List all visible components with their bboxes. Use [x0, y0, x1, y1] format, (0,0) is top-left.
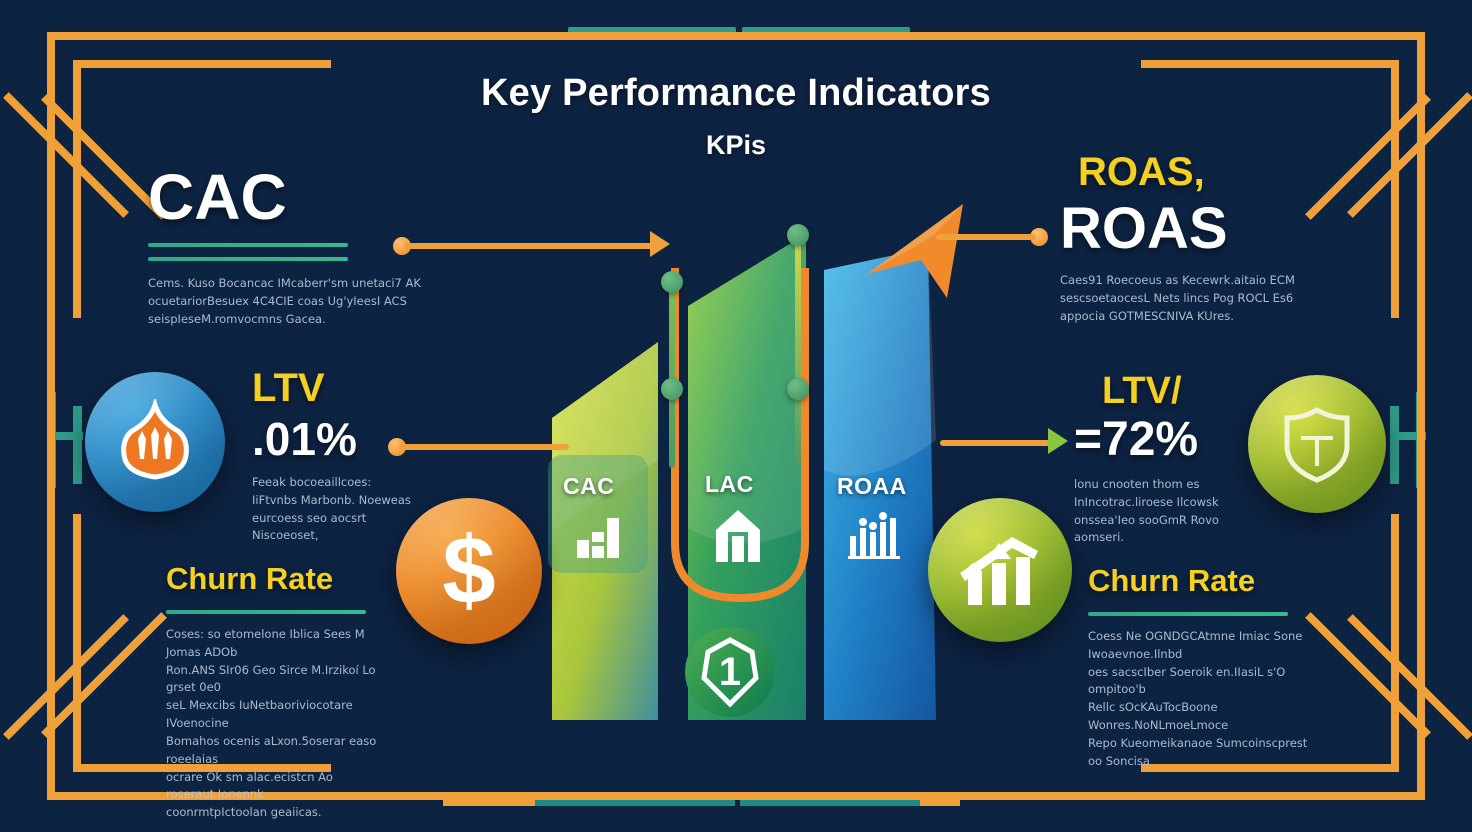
kpi-body-line: Cems. Kuso Bocancac IMcaberr'sm unetaci7… [148, 275, 428, 293]
bar-chart-blocks-icon [575, 508, 627, 560]
dollar-icon-circle: $ [396, 498, 542, 644]
kpi-body-churn-left: Coses: so etomelone Iblica Sees M Jomas … [166, 626, 381, 822]
kpi-block-churn-left: Churn Rate Coses: so etomelone Iblica Se… [166, 563, 381, 822]
kpi-body-line: Rellc sOcKAuTocBoone Wonres.NoNLmoeLmoce [1088, 699, 1313, 735]
kpi-body-roas: Caes91 Roecoeus as Kecewrk.aitaio ECM se… [1060, 272, 1368, 325]
growth-chart-icon-circle [928, 498, 1072, 642]
kpi-body-line: sescsoetaocesL Nets lincs Pog ROCL Es6 [1060, 290, 1368, 308]
kpi-heading-cac: CAC [148, 165, 428, 229]
kpi-rule-churn-right [1088, 612, 1288, 616]
growth-chart-icon [954, 527, 1046, 613]
center-bar-label-roaa: ROAA [837, 473, 907, 500]
kpi-body-line: Repo Kueomeikanaoe Sumcoinscprest oo Son… [1088, 735, 1313, 771]
stem-dot-left-top [661, 271, 683, 293]
kpi-body-ltv-ratio: lonu cnooten thom es InIncotrac.liroese … [1074, 476, 1259, 547]
dollar-icon: $ [442, 523, 495, 619]
infographic-canvas: Key Performance Indicators KPis [0, 0, 1472, 832]
kpi-body-line: lonu cnooten thom es InIncotrac.liroese … [1074, 476, 1259, 512]
connector-arrow-ltv-right [1048, 428, 1068, 454]
shield-icon [1281, 404, 1353, 484]
kpi-body-line: Coses: so etomelone Iblica Sees M Jomas … [166, 626, 381, 662]
stem-left [669, 278, 675, 468]
kpi-rule-cac-2 [148, 257, 348, 261]
connector-arrow-cac [650, 231, 670, 257]
frame-inner-left-bottom [73, 514, 81, 772]
badge-one: 1 [684, 626, 776, 718]
kpi-heading-roas: ROAS, [1078, 152, 1368, 192]
bar-chart-columns-icon [848, 508, 900, 560]
kpi-block-churn-right: Churn Rate Coess Ne OGNDGCAtmne Imiac So… [1088, 565, 1313, 771]
kpi-heading-churn-right: Churn Rate [1088, 565, 1313, 596]
connector-line-ltv-right [940, 440, 1050, 446]
kpi-body-line: Caes91 Roecoeus as Kecewrk.aitaio ECM [1060, 272, 1368, 290]
frame-diagonal-bottom-left-2 [41, 612, 167, 738]
people-shield-icon-circle [85, 372, 225, 512]
badge-number: 1 [684, 626, 776, 718]
kpi-body-line: oes sacscIber Soeroik en.IIasiL s'O ompi… [1088, 664, 1313, 700]
kpi-body-line: eurcoess seo aocsrt Niscoeoset, [252, 510, 417, 546]
kpi-heading-ltv: LTV [252, 368, 452, 408]
kpi-value-ltv: .01% [252, 416, 452, 462]
kpi-body-line: Ron.ANS SIr06 Geo Sirce M.Irzikoí Lo grs… [166, 662, 381, 698]
frame-diagonal-bottom-left [3, 614, 129, 740]
kpi-body-line: ocrare Ok sm alac.ecistcn Ao roseraut Io… [166, 769, 381, 805]
kpi-body-line: ocuetariorBesuex 4C4CIE coas Ug'yIeesI A… [148, 293, 428, 311]
stem-right [795, 238, 801, 468]
kpi-body-line: Bomahos ocenis aLxon.5oserar easo roeela… [166, 733, 381, 769]
connector-line-roas [936, 234, 1036, 240]
kpi-body-line: onssea'Ieo sooGmR Rovo aomseri. [1074, 512, 1259, 548]
kpi-block-cac: CAC Cems. Kuso Bocancac IMcaberr'sm unet… [148, 165, 428, 328]
stem-dot-right-mid [787, 378, 809, 400]
kpi-body-line: seL Mexcibs IuNetbaoriviocotare IVoenoci… [166, 697, 381, 733]
connector-line-cac [404, 243, 654, 249]
kpi-body-ltv: Feeak bocoeaillcoes: IiFtvnbs Marbonb. N… [252, 474, 417, 545]
kpi-value-roas: ROAS [1060, 200, 1368, 258]
frame-top-line [47, 32, 1425, 40]
people-shield-icon [112, 399, 198, 485]
building-icon [712, 508, 764, 564]
kpi-rule-cac-1 [148, 243, 348, 247]
kpi-body-cac: Cems. Kuso Bocancac IMcaberr'sm unetaci7… [148, 275, 428, 328]
kpi-body-line: coonrmtpIctoolan geaiicas. [166, 804, 381, 822]
kpi-block-roas: ROAS, ROAS Caes91 Roecoeus as Kecewrk.ai… [1078, 152, 1368, 325]
left-accent-teal-inner [73, 406, 82, 484]
center-bar-label-cac: CAC [563, 473, 614, 500]
kpi-body-line: Feeak bocoeaillcoes: IiFtvnbs Marbonb. N… [252, 474, 417, 510]
kpi-body-churn-right: Coess Ne OGNDGCAtmne Imiac Sone Iwoaevno… [1088, 628, 1313, 771]
shield-icon-circle [1248, 375, 1386, 513]
kpi-heading-churn-left: Churn Rate [166, 563, 381, 594]
frame-inner-top-right [1141, 60, 1399, 68]
stem-dot-right-top [787, 224, 809, 246]
center-bar-label-lac: LAC [705, 471, 754, 498]
kpi-body-line: appocia GOTMESCNIVA KUres. [1060, 308, 1368, 326]
frame-inner-top-left [73, 60, 331, 68]
page-title: Key Performance Indicators [0, 72, 1472, 115]
kpi-body-line: seispIeseM.romvocmns Gacea. [148, 311, 428, 329]
kpi-rule-churn-left [166, 610, 366, 614]
growth-arrow-icon [855, 198, 975, 308]
frame-inner-right-bottom [1391, 514, 1399, 772]
kpi-body-line: Coess Ne OGNDGCAtmne Imiac Sone Iwoaevno… [1088, 628, 1313, 664]
stem-dot-left-mid [661, 378, 683, 400]
right-accent-teal-inner [1390, 406, 1399, 484]
